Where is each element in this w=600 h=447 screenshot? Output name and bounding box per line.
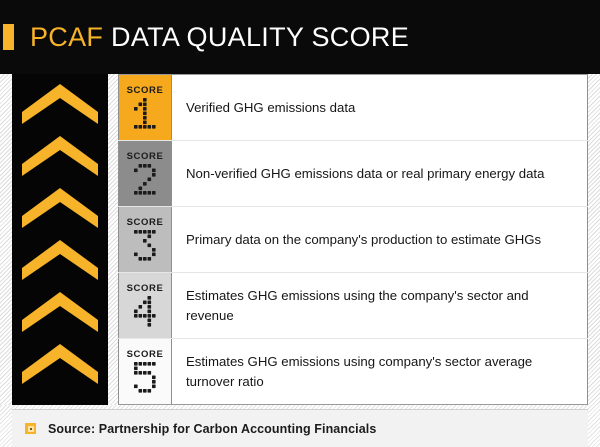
chevron-up-icon bbox=[20, 186, 100, 226]
score-label: SCORE bbox=[127, 284, 164, 294]
table-row: SCOREPrimary data on the company's produ… bbox=[118, 207, 588, 273]
score-description-cell: Estimates GHG emissions using the compan… bbox=[172, 273, 588, 338]
panel-gutter-hatch bbox=[108, 74, 118, 405]
score-badge-2: SCORE bbox=[118, 141, 172, 206]
score-description-text: Estimates GHG emissions using company's … bbox=[186, 352, 573, 390]
chevron-up-icon bbox=[20, 342, 100, 382]
score-badge-3: SCORE bbox=[118, 207, 172, 272]
table-row: SCOREEstimates GHG emissions using the c… bbox=[118, 273, 588, 339]
score-label: SCORE bbox=[127, 350, 164, 360]
score-description-text: Primary data on the company's production… bbox=[186, 230, 541, 249]
chevron-panel bbox=[12, 74, 108, 405]
score-description-cell: Non-verified GHG emissions data or real … bbox=[172, 141, 588, 206]
header-bar: PCAF DATA QUALITY SCORE bbox=[0, 0, 600, 74]
score-badge-1: SCORE bbox=[118, 75, 172, 140]
source-footer: Source: Partnership for Carbon Accountin… bbox=[12, 409, 588, 447]
score-description-cell: Primary data on the company's production… bbox=[172, 207, 588, 272]
table-row: SCOREEstimates GHG emissions using compa… bbox=[118, 339, 588, 404]
chevron-up-icon bbox=[20, 238, 100, 278]
score-number bbox=[134, 164, 157, 196]
table-row: SCOREVerified GHG emissions data bbox=[118, 75, 588, 141]
chevron-up-icon bbox=[20, 134, 100, 174]
score-description-text: Estimates GHG emissions using the compan… bbox=[186, 286, 573, 324]
score-description-text: Verified GHG emissions data bbox=[186, 98, 355, 117]
score-description-cell: Estimates GHG emissions using company's … bbox=[172, 339, 588, 404]
score-number bbox=[134, 230, 157, 262]
source-marker-dot bbox=[30, 428, 32, 430]
score-number bbox=[134, 98, 157, 130]
score-number bbox=[134, 362, 157, 394]
brand-name: PCAF bbox=[30, 22, 103, 52]
chevron-up-icon bbox=[20, 82, 100, 122]
score-label: SCORE bbox=[127, 86, 164, 96]
page-title: PCAF DATA QUALITY SCORE bbox=[30, 22, 409, 53]
header-accent-block bbox=[3, 24, 14, 50]
score-badge-4: SCORE bbox=[118, 273, 172, 338]
score-description-text: Non-verified GHG emissions data or real … bbox=[186, 164, 544, 183]
source-text: Source: Partnership for Carbon Accountin… bbox=[48, 422, 376, 436]
source-marker-icon bbox=[25, 423, 36, 434]
score-table: SCOREVerified GHG emissions dataSCORENon… bbox=[118, 74, 588, 405]
source-marker-inner bbox=[28, 426, 34, 432]
score-label: SCORE bbox=[127, 218, 164, 228]
score-badge-5: SCORE bbox=[118, 339, 172, 404]
score-label: SCORE bbox=[127, 152, 164, 162]
score-number bbox=[134, 296, 157, 328]
score-description-cell: Verified GHG emissions data bbox=[172, 75, 588, 140]
content-band: SCOREVerified GHG emissions dataSCORENon… bbox=[0, 74, 600, 405]
table-row: SCORENon-verified GHG emissions data or … bbox=[118, 141, 588, 207]
title-rest: DATA QUALITY SCORE bbox=[111, 22, 409, 52]
chevron-up-icon bbox=[20, 290, 100, 330]
